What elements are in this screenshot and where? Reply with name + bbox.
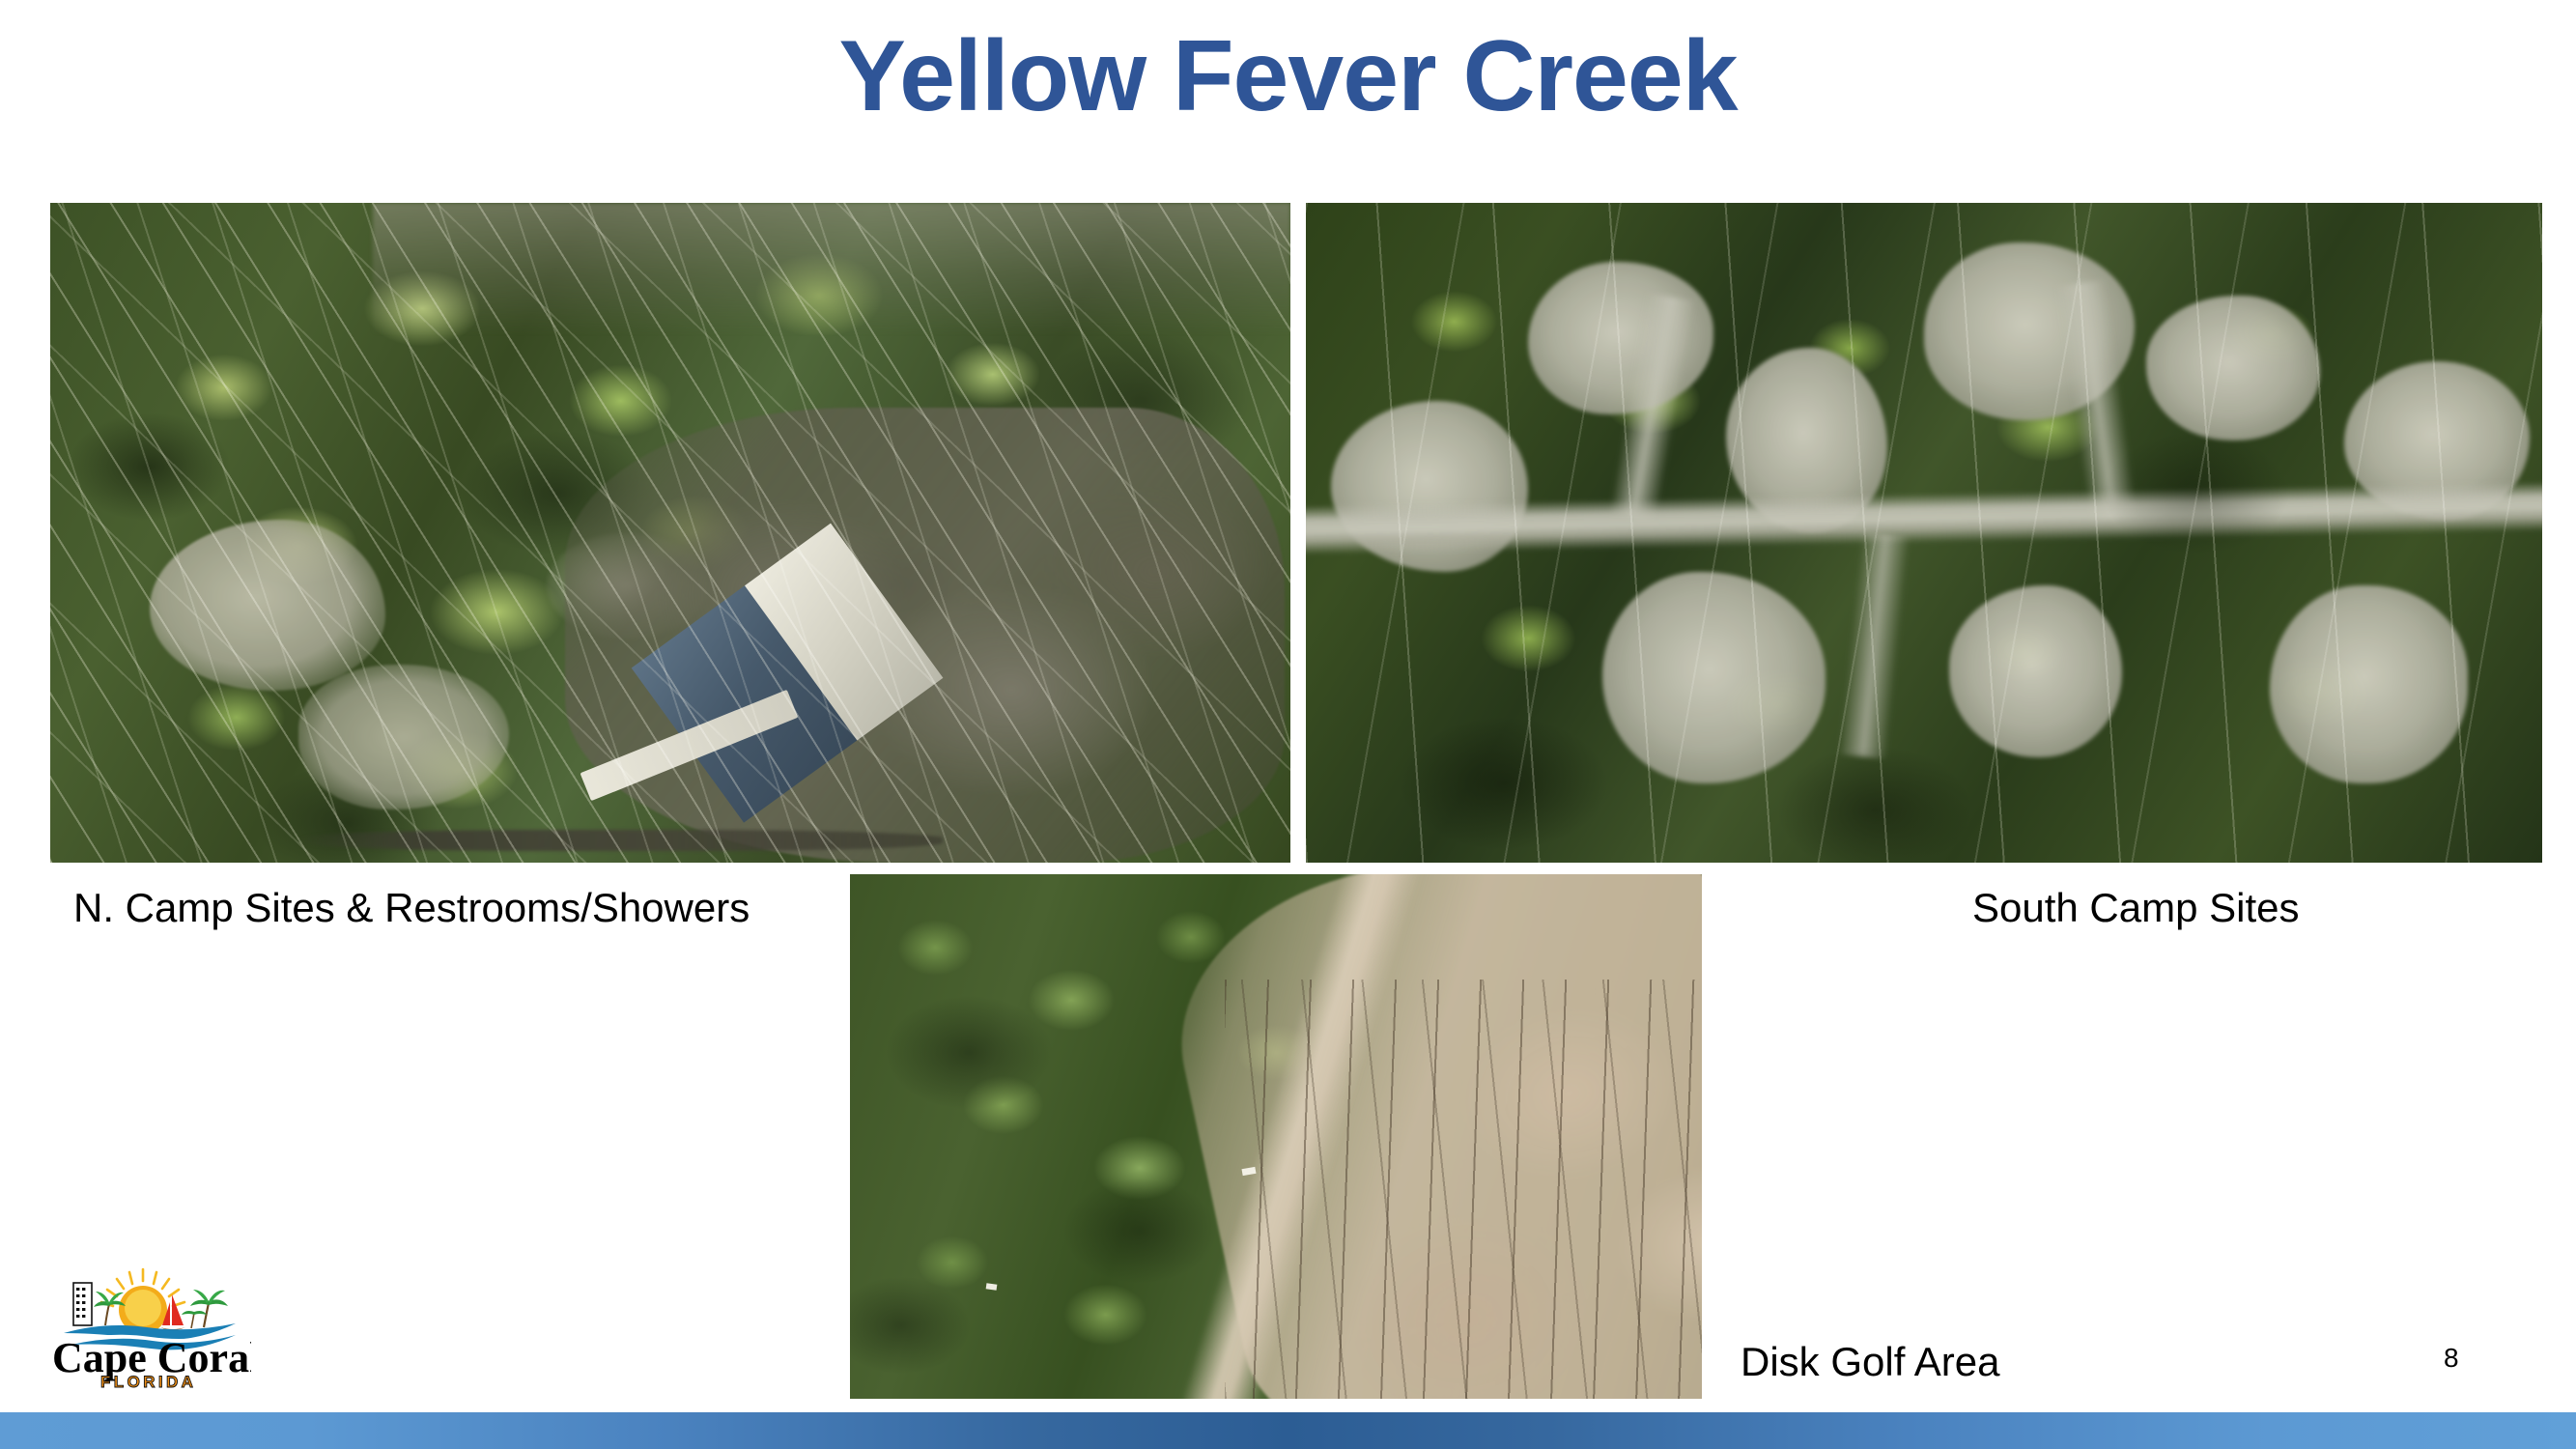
photo-north-fallen-trunks: [50, 203, 1290, 863]
photo-disk-marker-b: [986, 1283, 998, 1290]
photo-disk-bare-trunks: [1225, 980, 1702, 1399]
building-icon: [73, 1283, 92, 1325]
caption-disk-golf-area: Disk Golf Area: [1741, 1339, 1999, 1385]
bottom-accent-bar: [0, 1412, 2576, 1449]
photo-disk-golf-area: [850, 874, 1702, 1399]
caption-south-camp-sites: South Camp Sites: [1972, 885, 2300, 931]
photo-north-camp-sites: [50, 203, 1290, 863]
cape-coral-logo: Cape Coral FLORIDA: [46, 1264, 251, 1391]
logo-subtitle: FLORIDA: [100, 1373, 196, 1391]
slide: Yellow Fever Creek: [0, 0, 2576, 1449]
caption-north-camp-sites: N. Camp Sites & Restrooms/Showers: [73, 885, 750, 931]
page-title: Yellow Fever Creek: [0, 21, 2576, 131]
palm-tree-right-icon: [182, 1290, 228, 1328]
sun-inner-icon: [125, 1290, 161, 1326]
page-number: 8: [2444, 1343, 2459, 1374]
photo-south-camp-sites: [1306, 203, 2542, 863]
photo-south-fallen-trunks: [1306, 203, 2542, 863]
